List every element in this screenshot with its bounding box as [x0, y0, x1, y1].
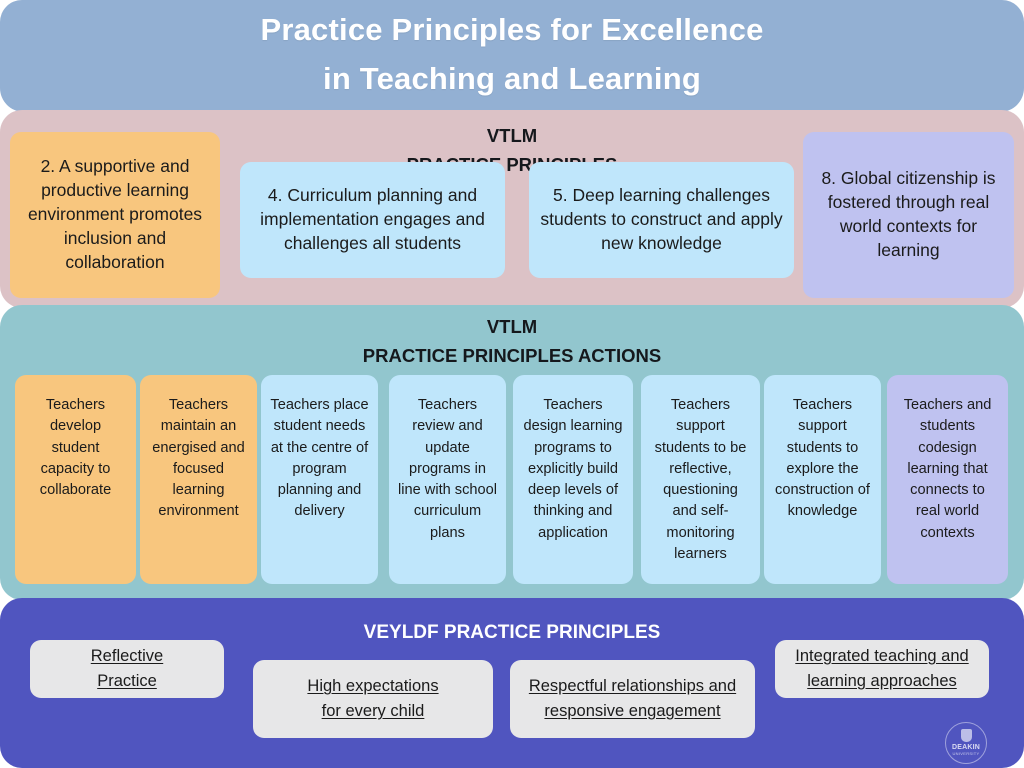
deakin-logo-name: DEAKIN — [952, 744, 980, 751]
principle-card-5-text: 5. Deep learning challenges students to … — [538, 184, 785, 256]
veyldf-card-2-line2: for every child — [322, 702, 425, 720]
action-card-1[interactable]: Teachers develop student capacity to col… — [15, 375, 136, 584]
action-card-2-text: Teachers maintain an energised and focus… — [149, 395, 248, 523]
veyldf-card-4-line1: Integrated teaching and — [795, 647, 968, 665]
veyldf-card-integrated-teaching[interactable]: Integrated teaching and learning approac… — [775, 640, 989, 698]
action-card-8-text: Teachers and students codesign learning … — [896, 395, 999, 544]
vtlm-actions-label-line1: VTLM — [0, 313, 1024, 342]
poster-canvas: Practice Principles for Excellence in Te… — [0, 0, 1024, 768]
deakin-university-logo: DEAKIN UNIVERSITY — [945, 722, 987, 764]
veyldf-card-respectful-relationships[interactable]: Respectful relationships and responsive … — [510, 660, 755, 738]
action-card-4-text: Teachers review and update programs in l… — [398, 395, 497, 544]
action-card-5-text: Teachers design learning programs to exp… — [522, 395, 624, 544]
principle-card-8[interactable]: 8. Global citizenship is fostered throug… — [803, 132, 1014, 298]
action-card-8[interactable]: Teachers and students codesign learning … — [887, 375, 1008, 584]
action-card-3-text: Teachers place student needs at the cent… — [270, 395, 369, 523]
principle-card-5[interactable]: 5. Deep learning challenges students to … — [529, 162, 794, 278]
shield-icon — [961, 729, 972, 742]
principle-card-2-text: 2. A supportive and productive learning … — [19, 155, 211, 275]
veyldf-card-high-expectations[interactable]: High expectations for every child — [253, 660, 493, 738]
action-card-3[interactable]: Teachers place student needs at the cent… — [261, 375, 378, 584]
veyldf-card-3-line2: responsive engagement — [544, 702, 720, 720]
principle-card-8-text: 8. Global citizenship is fostered throug… — [812, 167, 1005, 263]
vtlm-practice-principles-band: VTLM PRACTICE PRINCIPLES 2. A supportive… — [0, 110, 1024, 308]
page-title: Practice Principles for Excellence in Te… — [0, 6, 1024, 104]
action-card-2[interactable]: Teachers maintain an energised and focus… — [140, 375, 257, 584]
action-card-5[interactable]: Teachers design learning programs to exp… — [513, 375, 633, 584]
veyldf-card-reflective-practice[interactable]: Reflective Practice — [30, 640, 224, 698]
vtlm-actions-label: VTLM PRACTICE PRINCIPLES ACTIONS — [0, 313, 1024, 370]
veyldf-card-1-line1: Reflective — [91, 647, 163, 665]
principle-card-4[interactable]: 4. Curriculum planning and implementatio… — [240, 162, 505, 278]
vtlm-actions-label-line2: PRACTICE PRINCIPLES ACTIONS — [0, 342, 1024, 371]
veyldf-card-3-line1: Respectful relationships and — [529, 677, 736, 695]
action-card-1-text: Teachers develop student capacity to col… — [24, 395, 127, 501]
principle-card-2[interactable]: 2. A supportive and productive learning … — [10, 132, 220, 298]
principle-card-4-text: 4. Curriculum planning and implementatio… — [249, 184, 496, 256]
veyldf-card-1-line2: Practice — [97, 672, 157, 690]
action-card-7[interactable]: Teachers support students to explore the… — [764, 375, 881, 584]
action-card-7-text: Teachers support students to explore the… — [773, 395, 872, 523]
action-card-6-text: Teachers support students to be reflecti… — [650, 395, 751, 565]
page-title-line1: Practice Principles for Excellence — [0, 6, 1024, 55]
action-card-6[interactable]: Teachers support students to be reflecti… — [641, 375, 760, 584]
action-card-4[interactable]: Teachers review and update programs in l… — [389, 375, 506, 584]
veyldf-practice-principles-band: VEYLDF PRACTICE PRINCIPLES Reflective Pr… — [0, 598, 1024, 768]
veyldf-card-2-line1: High expectations — [307, 677, 438, 695]
veyldf-card-4-line2: learning approaches — [807, 672, 957, 690]
deakin-logo-subtitle: UNIVERSITY — [952, 751, 979, 757]
vtlm-practice-principles-actions-band: VTLM PRACTICE PRINCIPLES ACTIONS Teacher… — [0, 305, 1024, 600]
page-title-line2: in Teaching and Learning — [0, 55, 1024, 104]
header-band: Practice Principles for Excellence in Te… — [0, 0, 1024, 112]
